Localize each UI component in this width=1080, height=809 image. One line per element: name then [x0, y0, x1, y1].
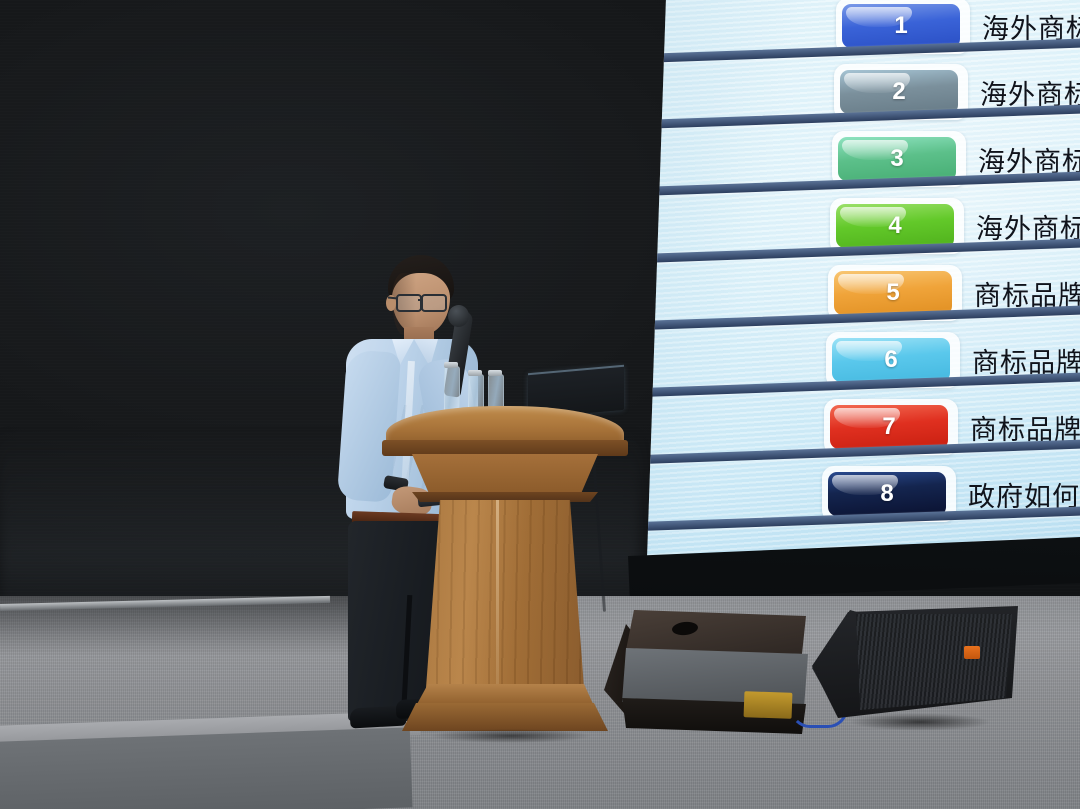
glasses-right-lens [421, 294, 447, 312]
speaker-brand-badge [964, 646, 980, 659]
slide-content: 1 海外商标 2 海外商标 3 海外商标 [628, 0, 1080, 594]
water-bottle [444, 366, 460, 412]
podium-shadow [396, 726, 626, 746]
chip-number: 1 [894, 12, 907, 40]
chip-6: 6 [832, 338, 950, 382]
photo-scene: 1 海外商标 2 海外商标 3 海外商标 [0, 0, 1080, 809]
chip-number: 4 [888, 212, 901, 240]
chip-8: 8 [828, 472, 946, 516]
chip-number: 7 [882, 413, 895, 441]
chip-2: 2 [840, 70, 958, 114]
chip-number: 8 [880, 480, 893, 508]
chip-number: 2 [892, 78, 905, 106]
speaker-top-panel [626, 610, 806, 654]
podium-desktop-edge [382, 440, 628, 456]
bottle-cap [468, 370, 482, 376]
chip-3: 3 [838, 137, 956, 181]
glasses-left-lens [396, 294, 422, 312]
chip-4: 4 [836, 204, 954, 248]
chip-7: 7 [830, 405, 948, 449]
podium-neck [412, 454, 598, 496]
chip-1: 1 [842, 4, 960, 48]
chip-number: 5 [886, 279, 899, 307]
speaker-shadow [822, 710, 1018, 734]
chip-number: 3 [890, 145, 903, 173]
speaker-connector-plate [744, 691, 793, 719]
stage-riser-face [0, 727, 413, 809]
monitor-speaker-left [604, 610, 820, 742]
chip-5: 5 [834, 271, 952, 315]
monitor-speaker-right [812, 606, 1018, 736]
podium-wood-grain [426, 500, 584, 688]
projection-screen: 1 海外商标 2 海外商标 3 海外商标 [628, 0, 1080, 594]
podium-column-edge [496, 500, 499, 688]
bottle-cap [444, 362, 458, 368]
speaker-grille [856, 614, 1012, 710]
wooden-podium [378, 400, 628, 740]
podium-base-top [416, 684, 594, 706]
chip-number: 6 [884, 346, 897, 374]
glasses-bridge [418, 299, 423, 301]
bottle-cap [488, 370, 502, 376]
